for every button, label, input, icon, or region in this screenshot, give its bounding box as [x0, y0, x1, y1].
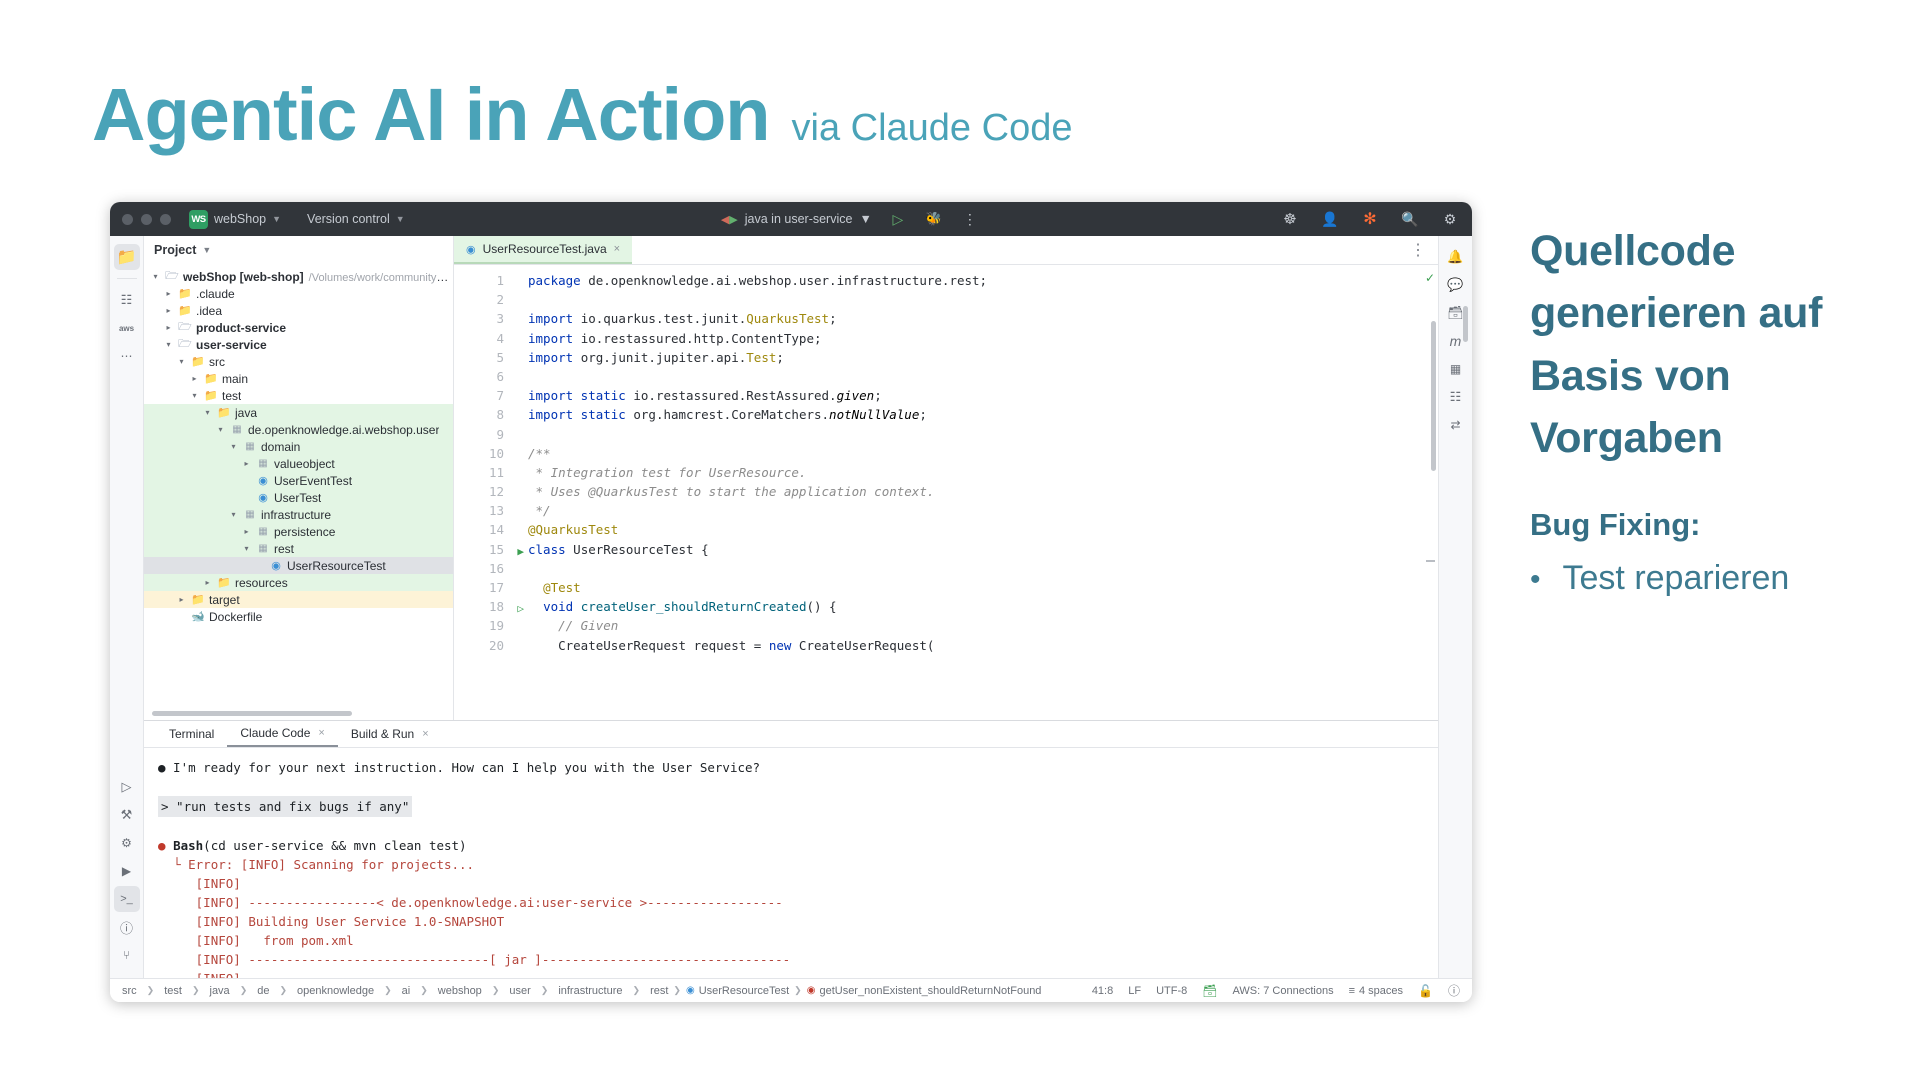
tree-node-user-service[interactable]: ▾🗁user-service: [144, 336, 453, 353]
run-configuration-selector[interactable]: ◀▶ java in user-service ▼: [721, 212, 872, 226]
editor-right-margin: ✓: [1422, 265, 1438, 720]
bullet-dot-icon: •: [1530, 565, 1541, 595]
aws-icon[interactable]: aws: [114, 315, 140, 341]
tree-node-persistence[interactable]: ▸▦persistence: [144, 523, 453, 540]
right-bullet-text: Test reparieren: [1563, 559, 1790, 598]
test-class-icon: ◉: [686, 985, 695, 996]
nav-back-forward-icon: ◀▶: [721, 213, 738, 226]
tree-node-label: target: [209, 593, 240, 607]
tree-node-webshop-web-shop-[interactable]: ▾🗁webShop [web-shop]/Volumes/work/commun…: [144, 268, 453, 285]
workspace-badge: WS: [189, 210, 208, 229]
chevron-down-icon: ▼: [859, 212, 871, 226]
tree-node-resources[interactable]: ▸📁resources: [144, 574, 453, 591]
chevron-down-icon: ▼: [396, 214, 405, 224]
maximize-window-button[interactable]: [160, 214, 171, 225]
line-number: 10: [454, 444, 510, 463]
ide-statusbar: src❯test❯java❯de❯openknowledge❯ai❯websho…: [110, 978, 1472, 1002]
ide-window: WS webShop ▼ Version control ▼ ◀▶ java i…: [110, 202, 1472, 1002]
code-line: CreateUserRequest request = new CreateUs…: [528, 636, 1422, 655]
breadcrumb-separator: ❯: [492, 985, 500, 996]
code-line: import io.restassured.http.ContentType;: [528, 329, 1422, 348]
breadcrumb-separator: ❯: [192, 985, 200, 996]
settings-gear-icon[interactable]: ⚙: [1440, 209, 1460, 229]
titlebar-right-actions: ☸ 👤 ✻ 🔍 ⚙: [1280, 209, 1460, 229]
notifications-bell-icon[interactable]: 🔔: [1443, 244, 1469, 270]
code-view[interactable]: 123456789101112131415▶161718▷1920 packag…: [454, 265, 1422, 720]
file-encoding[interactable]: UTF-8: [1156, 985, 1187, 997]
indent-label[interactable]: 4 spaces: [1359, 985, 1403, 997]
line-number: 3: [454, 309, 510, 328]
close-tab-icon[interactable]: ×: [614, 243, 620, 255]
breadcrumb-separator: ❯: [420, 985, 428, 996]
code-line: */: [528, 501, 1422, 520]
right-bullet-row: • Test reparieren: [1530, 559, 1900, 598]
statusbar-right: 41:8 LF UTF-8 🗃 AWS: 7 Connections ≡ 4 s…: [1092, 982, 1460, 999]
tree-node-rest[interactable]: ▾▦rest: [144, 540, 453, 557]
tree-node-valueobject[interactable]: ▸▦valueobject: [144, 455, 453, 472]
tree-node-label: java: [235, 406, 257, 420]
close-tab-icon[interactable]: ×: [318, 727, 324, 739]
terminal-tab-claude-code[interactable]: Claude Code×: [227, 721, 338, 747]
code-line: * Integration test for UserResource.: [528, 463, 1422, 482]
ide-titlebar: WS webShop ▼ Version control ▼ ◀▶ java i…: [110, 202, 1472, 236]
right-heading: Quellcode generieren auf Basis von Vorga…: [1530, 220, 1900, 469]
terminal-line: ● I'm ready for your next instruction. H…: [158, 758, 1438, 777]
module-icon: 🗁: [165, 267, 179, 286]
problems-icon[interactable]: ⓘ: [114, 914, 140, 940]
more-dots-icon[interactable]: ⋯: [114, 343, 140, 369]
tree-node-label: UserResourceTest: [287, 559, 386, 573]
breadcrumb-item[interactable]: ai: [402, 985, 411, 997]
terminal-line: [INFO] -----------------< de.openknowled…: [158, 893, 1438, 912]
line-number: 15▶: [454, 540, 510, 559]
chevron-down-icon: ▼: [202, 245, 211, 255]
breadcrumb-item[interactable]: webshop: [438, 985, 482, 997]
tree-node-label: rest: [274, 542, 294, 556]
run-test-icon[interactable]: ▶: [114, 858, 140, 884]
terminal-tool-window: TerminalClaude Code×Build & Run× ● I'm r…: [144, 720, 1438, 978]
terminal-tab-build-run[interactable]: Build & Run×: [338, 721, 442, 747]
code-line: import static org.hamcrest.CoreMatchers.…: [528, 405, 1422, 424]
terminal-line: [158, 817, 1438, 836]
package-icon: ▦: [256, 543, 270, 554]
tree-node-label: resources: [235, 576, 288, 590]
terminal-line: [158, 777, 1438, 796]
breadcrumb-separator: ❯: [673, 985, 681, 996]
line-number: 7: [454, 386, 510, 405]
breadcrumb-item[interactable]: java: [210, 985, 230, 997]
line-number: 1: [454, 271, 510, 290]
package-icon: ▦: [256, 526, 270, 537]
editor-vertical-scrollbar[interactable]: [1431, 321, 1436, 471]
slide-right-column: Quellcode generieren auf Basis von Vorga…: [1530, 220, 1900, 598]
titlebar-center: ◀▶ java in user-service ▼ ▷ 🐝 ⋮: [431, 209, 1270, 229]
terminal-tab-terminal[interactable]: Terminal: [156, 721, 227, 747]
project-selector[interactable]: WS webShop ▼: [189, 210, 281, 229]
tree-node-label: user-service: [196, 338, 267, 352]
chevron-down-icon[interactable]: ▾: [189, 391, 200, 400]
project-name-label: webShop: [214, 212, 266, 226]
terminal-tab-label: Build & Run: [351, 727, 414, 741]
project-folder-icon[interactable]: 📁: [114, 244, 140, 270]
code-line: * Uses @QuarkusTest to start the applica…: [528, 482, 1422, 501]
terminal-line: [INFO] --------------------------------[…: [158, 950, 1438, 969]
code-line: [528, 290, 1422, 309]
code-marker: [1426, 560, 1435, 562]
terminal-line: ● Bash(cd user-service && mvn clean test…: [158, 836, 1438, 855]
breadcrumb-separator: ❯: [384, 985, 392, 996]
test-class-icon: ◉: [269, 559, 283, 572]
version-control-branch-icon[interactable]: ⑂: [114, 942, 140, 968]
terminal-line: [INFO]: [158, 969, 1438, 978]
debug-bug-icon[interactable]: 🐝: [924, 209, 944, 229]
chevron-down-icon[interactable]: ▾: [163, 340, 174, 349]
close-window-button[interactable]: [122, 214, 133, 225]
tree-node-main[interactable]: ▸📁main: [144, 370, 453, 387]
tree-node-path: /Volumes/work/community/events/2025/: [309, 272, 449, 284]
code-text[interactable]: package de.openknowledge.ai.webshop.user…: [510, 265, 1422, 720]
code-line: import io.quarkus.test.junit.QuarkusTest…: [528, 309, 1422, 328]
tree-node-usertest[interactable]: ◉UserTest: [144, 489, 453, 506]
folder-green-icon: 📁: [217, 406, 231, 419]
terminal-line: [INFO] from pom.xml: [158, 931, 1438, 950]
run-config-label: java in user-service: [745, 212, 853, 226]
chevron-down-icon[interactable]: ▾: [215, 425, 226, 434]
code-line: [528, 559, 1422, 578]
code-line: package de.openknowledge.ai.webshop.user…: [528, 271, 1422, 290]
line-number: 18▷: [454, 597, 510, 616]
code-line: @QuarkusTest: [528, 520, 1422, 539]
line-number: 12: [454, 482, 510, 501]
tree-node-label: test: [222, 389, 241, 403]
tree-node-infrastructure[interactable]: ▾▦infrastructure: [144, 506, 453, 523]
ide-body: 📁 ☷ aws ⋯ ▷ ⚒ ⚙ ▶ >_ ⓘ ⑂ Project ▼: [110, 236, 1472, 978]
chevron-down-icon: ▼: [272, 214, 281, 224]
package-icon: ▦: [243, 509, 257, 520]
package-icon: ▦: [230, 424, 244, 435]
editor-area: 123456789101112131415▶161718▷1920 packag…: [454, 265, 1438, 720]
editor-tab-userresourcetest[interactable]: ◉ UserResourceTest.java ×: [454, 236, 632, 264]
structure-icon[interactable]: ☷: [114, 287, 140, 313]
tools-icon[interactable]: ⚙: [114, 830, 140, 856]
chevron-down-icon[interactable]: ▾: [202, 408, 213, 417]
tree-node-domain[interactable]: ▾▦domain: [144, 438, 453, 455]
build-hammer-icon[interactable]: ⚒: [114, 802, 140, 828]
chevron-right-icon[interactable]: ▸: [163, 306, 174, 315]
tree-node-label: product-service: [196, 321, 286, 335]
breadcrumb-separator: ❯: [794, 985, 802, 996]
breadcrumb-separator: ❯: [240, 985, 248, 996]
project-panel-title: Project: [154, 243, 196, 257]
line-number: 8: [454, 405, 510, 424]
endpoints-icon[interactable]: ⇄: [1443, 412, 1469, 438]
chevron-right-icon[interactable]: ▸: [241, 527, 252, 536]
chevron-down-icon[interactable]: ▾: [228, 510, 239, 519]
line-number: 5: [454, 348, 510, 367]
caret-position[interactable]: 41:8: [1092, 985, 1113, 997]
maven-icon[interactable]: m: [1443, 328, 1469, 354]
editor-tab-label: UserResourceTest.java: [483, 242, 607, 256]
tree-node-label: infrastructure: [261, 508, 331, 522]
database-icon[interactable]: 🗃: [1443, 300, 1469, 326]
chevron-right-icon[interactable]: ▸: [202, 578, 213, 587]
terminal-line: [INFO] Building User Service 1.0-SNAPSHO…: [158, 912, 1438, 931]
ide-services-icon[interactable]: ▦: [1443, 356, 1469, 382]
package-icon: ▦: [243, 441, 257, 452]
terminal-output[interactable]: ● I'm ready for your next instruction. H…: [144, 748, 1438, 978]
line-separator[interactable]: LF: [1128, 985, 1141, 997]
ai-chat-icon[interactable]: 💬: [1443, 272, 1469, 298]
line-number: 17: [454, 578, 510, 597]
folder-icon: 📁: [204, 372, 218, 385]
chevron-down-icon[interactable]: ▾: [241, 544, 252, 553]
search-icon[interactable]: 🔍: [1400, 209, 1420, 229]
code-line: // Given: [528, 616, 1422, 635]
code-line: void createUser_shouldReturnCreated() {: [528, 597, 1422, 616]
project-tool-window: Project ▼ ▾🗁webShop [web-shop]/Volumes/w…: [144, 236, 454, 720]
run-all-tests-icon[interactable]: ▶: [517, 542, 524, 561]
gradle-icon[interactable]: ☷: [1443, 384, 1469, 410]
tree-node--claude[interactable]: ▸📁.claude: [144, 285, 453, 302]
breadcrumb-item[interactable]: src: [122, 985, 137, 997]
window-controls[interactable]: [122, 214, 171, 225]
terminal-line: [INFO]: [158, 874, 1438, 893]
close-tab-icon[interactable]: ×: [422, 728, 428, 740]
tree-node-dockerfile[interactable]: 🐋Dockerfile: [144, 608, 453, 625]
tree-node-test[interactable]: ▾📁test: [144, 387, 453, 404]
editor-tabbar: ◉ UserResourceTest.java × ⋮: [454, 236, 1438, 265]
version-control-label: Version control: [307, 212, 390, 226]
line-number: 11: [454, 463, 510, 482]
asterisk-sparkle-icon[interactable]: ✻: [1360, 209, 1380, 229]
folder-icon: 📁: [204, 389, 218, 402]
run-button[interactable]: ▷: [888, 209, 908, 229]
tree-node-product-service[interactable]: ▸🗁product-service: [144, 319, 453, 336]
spiral-icon[interactable]: ☸: [1280, 209, 1300, 229]
breadcrumb-item[interactable]: rest: [650, 985, 668, 997]
terminal-tab-label: Terminal: [169, 727, 214, 741]
code-line: import static io.restassured.RestAssured…: [528, 386, 1422, 405]
folder-icon: 📁: [191, 593, 205, 606]
db-status-icon[interactable]: 🗃: [1202, 984, 1217, 998]
chevron-right-icon[interactable]: ▸: [241, 459, 252, 468]
editor-column: ◉ UserResourceTest.java × ⋮ 123456789101…: [454, 236, 1438, 720]
resources-icon: 📁: [217, 576, 231, 589]
inspection-ok-icon: ✓: [1425, 271, 1435, 285]
line-number: 19: [454, 616, 510, 635]
project-tree-hscrollbar[interactable]: [152, 711, 352, 716]
indent-icon: ≡: [1349, 985, 1355, 997]
tree-node-userresourcetest[interactable]: ◉UserResourceTest: [144, 557, 453, 574]
tree-node-label: Dockerfile: [209, 610, 262, 624]
tree-node-label: .claude: [196, 287, 235, 301]
tree-node-label: UserTest: [274, 491, 321, 505]
breadcrumb-separator: ❯: [541, 985, 549, 996]
line-number: 4: [454, 329, 510, 348]
right-tool-strip: 🔔 💬 🗃 m ▦ ☷ ⇄: [1438, 236, 1472, 978]
breadcrumb-separator: ❯: [279, 985, 287, 996]
tree-node-usereventtest[interactable]: ◉UserEventTest: [144, 472, 453, 489]
chevron-right-icon[interactable]: ▸: [163, 289, 174, 298]
terminal-line: > "run tests and fix bugs if any": [158, 796, 1438, 817]
minimize-window-button[interactable]: [141, 214, 152, 225]
line-number: 16: [454, 559, 510, 578]
line-number: 13: [454, 501, 510, 520]
line-number: 20: [454, 636, 510, 655]
more-vertical-icon[interactable]: ⋮: [960, 209, 980, 229]
chevron-down-icon[interactable]: ▾: [176, 357, 187, 366]
tree-node-label: UserEventTest: [274, 474, 352, 488]
code-line: @Test: [528, 578, 1422, 597]
line-number-gutter: 123456789101112131415▶161718▷1920: [454, 265, 510, 720]
statusbar-method[interactable]: getUser_nonExistent_shouldReturnNotFound: [819, 985, 1041, 997]
code-line: import org.junit.jupiter.api.Test;: [528, 348, 1422, 367]
statusbar-class[interactable]: UserResourceTest: [699, 985, 789, 997]
tree-node-label: .idea: [196, 304, 222, 318]
code-line: [528, 367, 1422, 386]
code-line: class UserResourceTest {: [528, 540, 1422, 559]
add-user-icon[interactable]: 👤: [1320, 209, 1340, 229]
terminal-tab-label: Claude Code: [240, 726, 310, 740]
code-line: [528, 425, 1422, 444]
code-line: /**: [528, 444, 1422, 463]
breadcrumb-item[interactable]: test: [164, 985, 182, 997]
breadcrumb-separator: ❯: [147, 985, 155, 996]
line-number: 9: [454, 425, 510, 444]
tabbar-filler: [632, 236, 1398, 264]
test-class-icon: ◉: [256, 491, 270, 504]
chevron-down-icon[interactable]: ▾: [228, 442, 239, 451]
terminal-tabs: TerminalClaude Code×Build & Run×: [144, 721, 1438, 748]
tree-node-target[interactable]: ▸📁target: [144, 591, 453, 608]
breadcrumb-item[interactable]: openknowledge: [297, 985, 374, 997]
left-tool-strip: 📁 ☷ aws ⋯ ▷ ⚒ ⚙ ▶ >_ ⓘ ⑂: [110, 236, 144, 978]
line-number: 6: [454, 367, 510, 386]
test-method-icon: ◉: [807, 985, 816, 996]
chevron-down-icon[interactable]: ▾: [150, 272, 161, 281]
aws-connections-label[interactable]: AWS: 7 Connections: [1232, 985, 1333, 997]
folder-icon: 📁: [178, 304, 192, 317]
unlocked-icon[interactable]: 🔓: [1418, 984, 1433, 998]
strip-divider: [117, 278, 137, 279]
tree-node-label: persistence: [274, 525, 335, 539]
info-circle-icon[interactable]: ⓘ: [1448, 982, 1460, 999]
run-icon[interactable]: ▷: [114, 774, 140, 800]
package-icon: ▦: [256, 458, 270, 469]
tree-node-label: valueobject: [274, 457, 335, 471]
chevron-right-icon[interactable]: ▸: [163, 323, 174, 332]
chevron-right-icon[interactable]: ▸: [176, 595, 187, 604]
breadcrumb-item[interactable]: user: [509, 985, 530, 997]
folder-icon: 📁: [191, 355, 205, 368]
tree-node-label: webShop [web-shop]/Volumes/work/communit…: [183, 270, 449, 284]
tree-node-label: main: [222, 372, 248, 386]
tree-node-src[interactable]: ▾📁src: [144, 353, 453, 370]
terminal-icon[interactable]: >_: [114, 886, 140, 912]
project-tree[interactable]: ▾🗁webShop [web-shop]/Volumes/work/commun…: [144, 264, 453, 720]
project-panel-header[interactable]: Project ▼: [144, 236, 453, 264]
tree-node-label: de.openknowledge.ai.webshop.user: [248, 423, 439, 437]
slide-title: Agentic AI in Action via Claude Code: [92, 72, 1072, 157]
docker-icon: 🐋: [191, 610, 205, 623]
terminal-line: └ Error: [INFO] Scanning for projects...: [158, 855, 1438, 874]
chevron-right-icon[interactable]: ▸: [189, 374, 200, 383]
test-class-icon: ◉: [256, 474, 270, 487]
run-test-icon[interactable]: ▷: [517, 599, 524, 618]
breadcrumb-separator: ❯: [633, 985, 641, 996]
slide-title-main: Agentic AI in Action: [92, 72, 770, 157]
tree-node-label: domain: [261, 440, 300, 454]
line-number: 14: [454, 520, 510, 539]
tree-node-de-openknowledge-ai-webshop-user[interactable]: ▾▦de.openknowledge.ai.webshop.user: [144, 421, 453, 438]
breadcrumb-item[interactable]: de: [257, 985, 269, 997]
right-subheading: Bug Fixing:: [1530, 507, 1900, 543]
more-vertical-icon[interactable]: ⋮: [1398, 236, 1438, 264]
statusbar-breadcrumbs[interactable]: src❯test❯java❯de❯openknowledge❯ai❯websho…: [122, 985, 668, 997]
tree-node--idea[interactable]: ▸📁.idea: [144, 302, 453, 319]
folder-icon: 📁: [178, 287, 192, 300]
version-control-menu[interactable]: Version control ▼: [307, 212, 405, 226]
slide-title-sub: via Claude Code: [792, 107, 1073, 150]
tree-node-label: src: [209, 355, 225, 369]
test-class-icon: ◉: [466, 243, 476, 256]
module-icon: 🗁: [178, 335, 192, 354]
tree-node-java[interactable]: ▾📁java: [144, 404, 453, 421]
line-number: 2: [454, 290, 510, 309]
breadcrumb-item[interactable]: infrastructure: [558, 985, 622, 997]
